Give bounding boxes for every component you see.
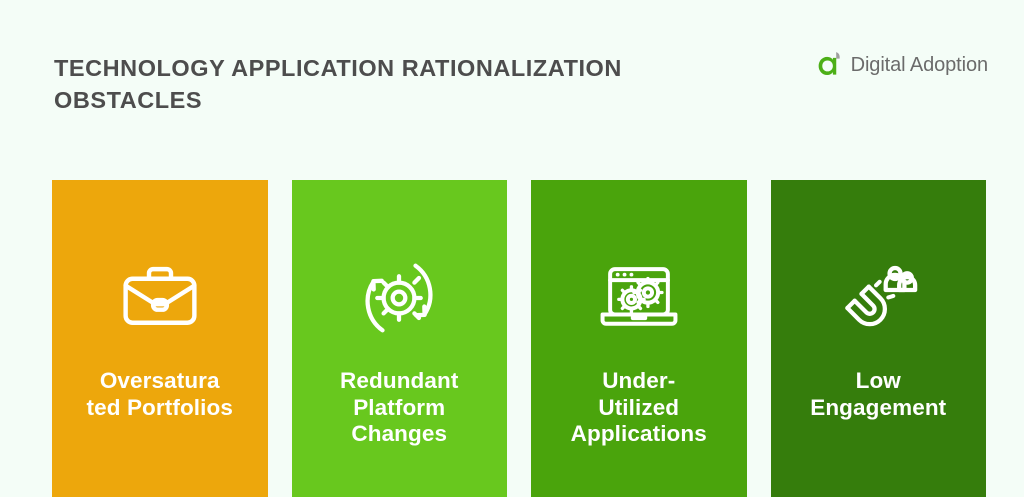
card-label-line-2: Engagement bbox=[781, 395, 977, 422]
card-label: Low Engagement bbox=[771, 368, 987, 421]
gear-refresh-cycle-icon bbox=[355, 254, 443, 342]
card-oversaturated-portfolios[interactable]: Oversatura ted Portfolios bbox=[52, 180, 268, 497]
card-label: Under- Utilized Applications bbox=[531, 368, 747, 448]
brand-logo-text: Digital Adoption bbox=[851, 55, 988, 76]
magnet-people-icon bbox=[834, 254, 922, 342]
brand-logo[interactable]: Digital Adoption bbox=[816, 48, 988, 82]
card-label-line-2: Platform bbox=[302, 395, 498, 422]
card-label: Redundant Platform Changes bbox=[292, 368, 508, 448]
card-label-line-3: Changes bbox=[302, 421, 498, 448]
page-title: TECHNOLOGY APPLICATION RATIONALIZATION O… bbox=[54, 52, 694, 117]
digital-adoption-a-logo-icon bbox=[816, 50, 846, 80]
briefcase-icon bbox=[116, 254, 204, 342]
card-label-line-2: ted Portfolios bbox=[62, 395, 258, 422]
card-label: Oversatura ted Portfolios bbox=[52, 368, 268, 421]
header: TECHNOLOGY APPLICATION RATIONALIZATION O… bbox=[0, 0, 1024, 180]
card-label-line-1: Redundant bbox=[302, 368, 498, 395]
card-label-line-1: Under- bbox=[541, 368, 737, 395]
card-label-line-3: Applications bbox=[541, 421, 737, 448]
obstacles-card-row: Oversatura ted Portfolios bbox=[52, 180, 986, 497]
card-label-line-1: Low bbox=[781, 368, 977, 395]
card-label-line-1: Oversatura bbox=[62, 368, 258, 395]
card-under-utilized-applications[interactable]: Under- Utilized Applications bbox=[531, 180, 747, 497]
card-redundant-platform-changes[interactable]: Redundant Platform Changes bbox=[292, 180, 508, 497]
card-label-line-2: Utilized bbox=[541, 395, 737, 422]
laptop-gears-icon bbox=[595, 254, 683, 342]
card-low-engagement[interactable]: Low Engagement bbox=[771, 180, 987, 497]
